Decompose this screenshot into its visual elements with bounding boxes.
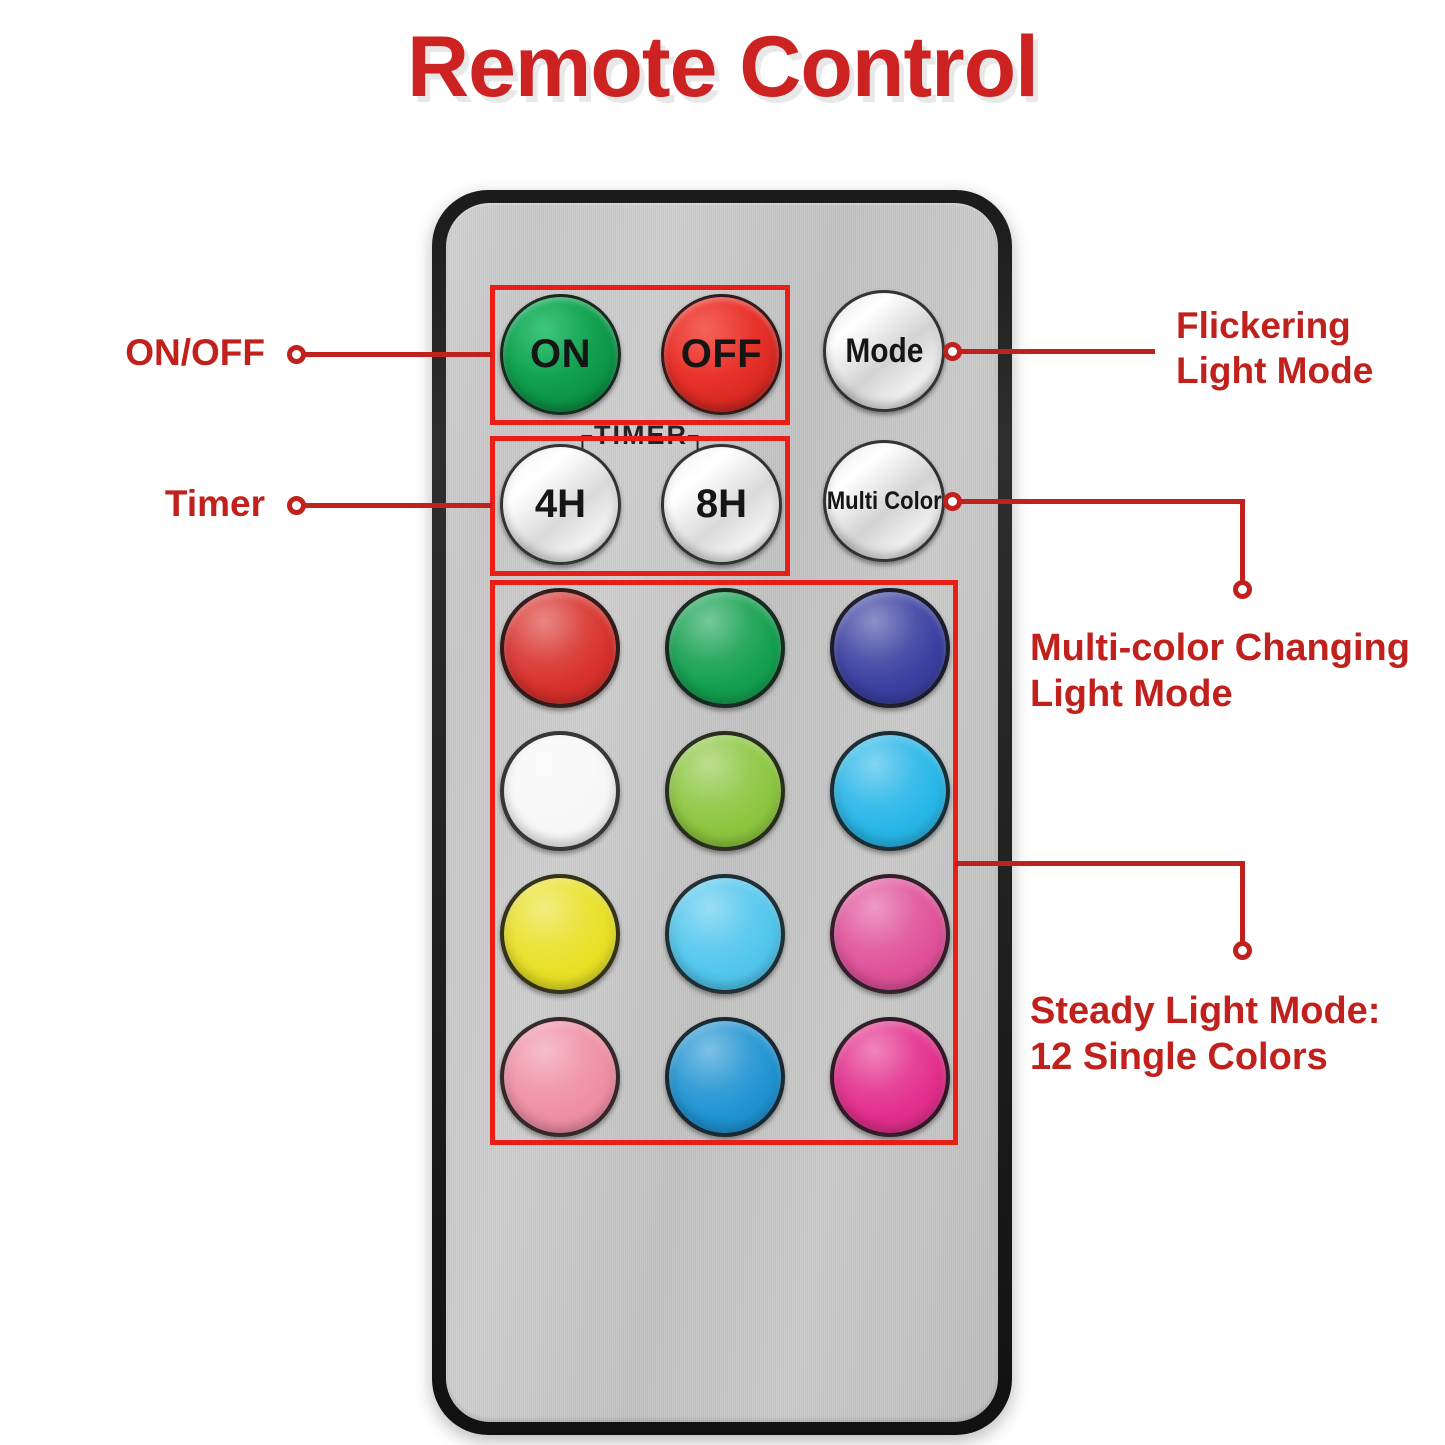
color-swatch-lime-green-button[interactable] [665, 731, 785, 851]
annotation-label-flickering: Flickering Light Mode [1176, 303, 1445, 393]
leader-dot-timer [287, 496, 306, 515]
on-button[interactable]: ON [500, 294, 621, 415]
poster-canvas: Remote Control ON OFF ┌TIMER┐ 4H 8H Mode… [0, 0, 1445, 1445]
page-title: Remote Control [0, 18, 1445, 117]
mode-button[interactable]: Mode [823, 290, 945, 412]
off-button[interactable]: OFF [661, 294, 782, 415]
timer-4h-button[interactable]: 4H [500, 444, 621, 565]
mode-button-label: Mode [845, 332, 923, 371]
timer-8h-label: 8H [696, 482, 747, 527]
timer-4h-label: 4H [535, 482, 586, 527]
leader-dot-on-off [287, 345, 306, 364]
color-swatch-red-button[interactable] [500, 588, 620, 708]
color-swatch-sky-blue-button[interactable] [830, 731, 950, 851]
annotation-label-timer: Timer [40, 481, 265, 526]
color-swatch-blue-button[interactable] [665, 1017, 785, 1137]
timer-label-text: TIMER [594, 420, 688, 450]
leader-line-multi-color-v [1240, 499, 1245, 589]
color-swatch-light-pink-button[interactable] [500, 1017, 620, 1137]
color-swatch-green-button[interactable] [665, 588, 785, 708]
color-swatch-indigo-blue-button[interactable] [830, 588, 950, 708]
color-swatch-white-button[interactable] [500, 731, 620, 851]
annotation-label-steady: Steady Light Mode: 12 Single Colors [1030, 988, 1445, 1081]
color-swatch-light-blue-button[interactable] [665, 874, 785, 994]
leader-dot-steady-end [1233, 941, 1252, 960]
timer-8h-button[interactable]: 8H [661, 444, 782, 565]
annotation-label-on-off: ON/OFF [40, 330, 265, 375]
color-swatch-magenta-button[interactable] [830, 874, 950, 994]
annotation-label-multi-color: Multi-color Changing Light Mode [1030, 625, 1445, 718]
color-swatch-deep-pink-button[interactable] [830, 1017, 950, 1137]
leader-dot-multi-color-end [1233, 580, 1252, 599]
leader-line-steady-v [1240, 861, 1245, 949]
multi-color-button[interactable]: Multi Color [823, 440, 945, 562]
color-swatch-grid [500, 588, 950, 1136]
color-swatch-yellow-button[interactable] [500, 874, 620, 994]
off-button-label: OFF [681, 332, 762, 377]
multi-color-button-label: Multi Color [827, 487, 942, 516]
on-button-label: ON [530, 332, 591, 377]
